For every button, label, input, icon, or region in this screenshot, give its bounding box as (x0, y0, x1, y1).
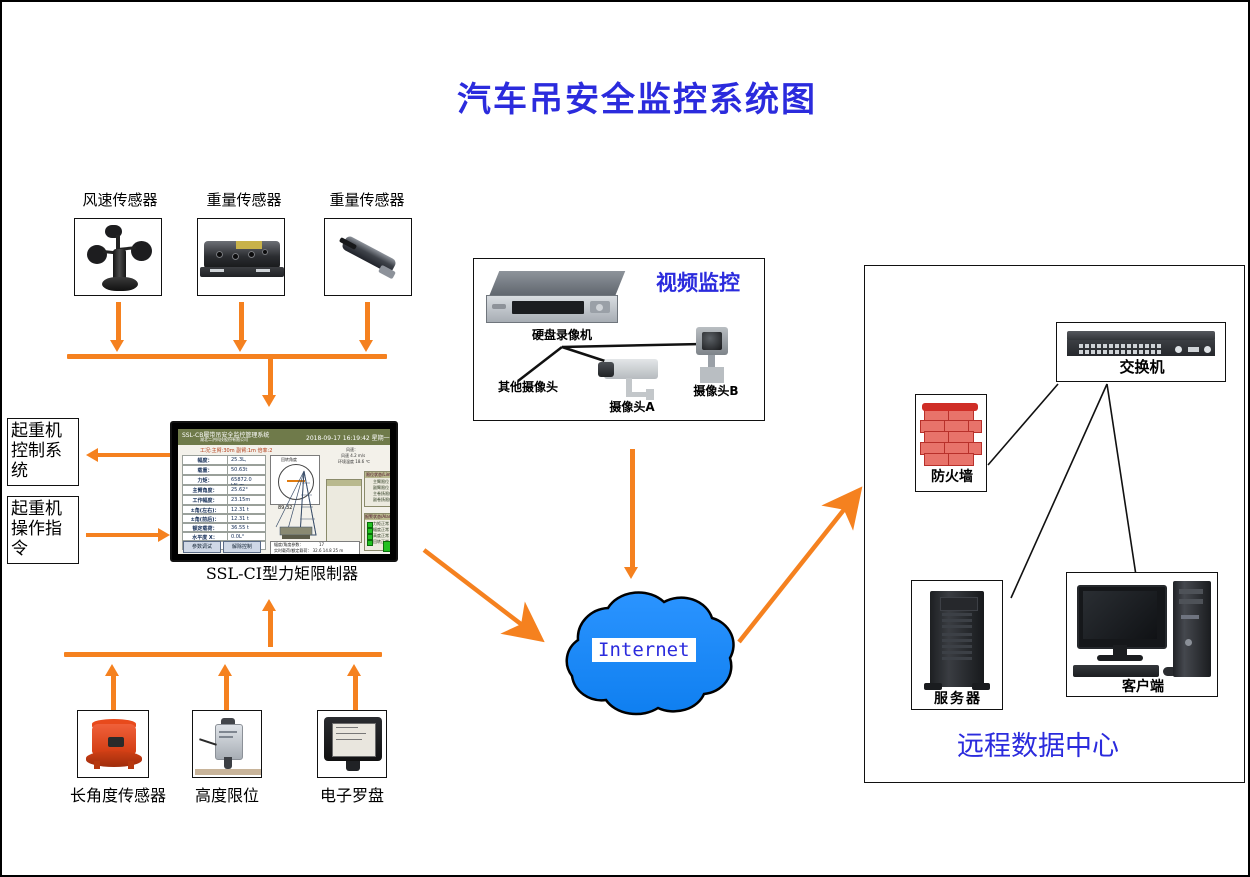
arrow-line-bottom-to-controller (268, 610, 273, 647)
row-key: 幅度： (183, 456, 228, 464)
sensor-bus-top (67, 354, 387, 359)
load-cell-icon (197, 218, 285, 296)
arrow-head-to-control-system (86, 448, 98, 462)
torque-limiter-caption: SSL-CI型力矩限制器 (172, 565, 392, 583)
height-limit-icon (192, 710, 262, 778)
arrow-head-bus-to-controller (262, 395, 276, 407)
controller-data-row: 工作幅度： 23.15m (182, 495, 266, 505)
sensor-label-wind-speed: 风速传感器 (65, 192, 175, 209)
camera-b-label: 摄像头B (670, 385, 762, 399)
controller-header-datetime: 2018-09-17 16:19:42 星期一 (306, 433, 390, 442)
controller-footer-box: 幅度/角度参数： 17 实时载荷/额定载荷： 32.6 14.8 25 m (270, 541, 360, 554)
row-value: 36.55 t (228, 524, 265, 531)
arrow-head-to-controller (158, 528, 170, 542)
row-value: 12.31 t (228, 515, 265, 522)
row-key: ±角(前后)： (183, 515, 228, 522)
controller-limit-panel-title: 限位状态/Limit Switch (366, 472, 390, 478)
other-camera-label: 其他摄像头 (482, 381, 574, 395)
row-key: 水平度 X： (183, 533, 228, 540)
arrow-head-wind (110, 340, 124, 352)
row-value: 12.31 t (228, 506, 265, 513)
controller-data-row: 力矩： 65872.0 kN·m (182, 475, 266, 485)
camera-a-label: 摄像头A (586, 401, 678, 415)
box-crane-control-system[interactable]: 起重机控制系统 (7, 418, 79, 486)
arrow-head-weight-1 (233, 340, 247, 352)
torque-limiter-device[interactable]: SSL-CB履带吊安全监控管理系统 湖北二洪科技股份有限公司 2018-09-1… (170, 421, 398, 562)
arrow-line-video-to-cloud (630, 449, 635, 569)
row-value: 50.63t (228, 466, 265, 474)
sensor-label-height-limit: 高度限位 (172, 787, 282, 805)
arrow-head-weight-2 (359, 340, 373, 352)
row-value: 25.62° (228, 486, 265, 494)
controller-status-indicator (383, 541, 390, 552)
controller-button-debug[interactable]: 参数调试 (183, 541, 221, 553)
controller-load-panel (326, 479, 362, 543)
controller-data-row: 载重： 50.63t (182, 465, 266, 475)
controller-data-row: 主臂角度： 25.62° (182, 485, 266, 495)
switch-label: 交换机 (1057, 359, 1226, 376)
arrow-line-height-limit (224, 675, 229, 710)
controller-work-condition: 工况:主臂:30m 副臂:1m 倍率:2 (200, 447, 272, 454)
arrow-line-angle-sensor (111, 675, 116, 710)
sensor-label-angle: 长角度传感器 (58, 787, 178, 805)
row-value: 25.3L, (228, 456, 265, 464)
controller-data-row: ±角(前后)： 12.31 t (182, 514, 266, 523)
row-key: 额定载荷： (183, 524, 228, 531)
sensor-label-compass: 电子罗盘 (297, 787, 407, 805)
controller-data-row: 水平度 X： 0.0L° (182, 532, 266, 541)
limit-item: 副卷扬限位 (373, 497, 390, 503)
angle-sensor-icon (77, 710, 149, 778)
controller-footer-sub: 实时载荷/额定载荷： 32.6 14.8 25 m (274, 548, 343, 554)
arrow-line-weight-2 (365, 302, 370, 342)
controller-footer-right: 17 (319, 542, 324, 547)
controller-alarm-panel-title: 报警状态/Alarm Status (365, 514, 390, 520)
arrow-line-bus-to-controller (268, 359, 273, 397)
video-monitoring-title: 视频监控 (656, 267, 740, 297)
internet-label: Internet (592, 638, 696, 662)
row-key: 力矩： (183, 476, 228, 484)
electronic-compass-icon (317, 710, 387, 778)
arrow-line-wind (116, 302, 121, 342)
box-crane-operation-command[interactable]: 起重机操作指令 (7, 496, 79, 564)
row-value: 0.0L° (228, 533, 265, 540)
controller-limit-panel: 限位状态/Limit Switch 主臂限位 副臂限位 主卷扬限位 副卷扬限位 (364, 471, 390, 507)
row-key: 主臂角度： (183, 486, 228, 494)
row-key: 载重： (183, 466, 228, 474)
arrow-line-to-controller (86, 533, 158, 537)
video-monitoring-block: 硬盘录像机 摄像头A 摄像头B 其他摄像头 视频监控 (473, 258, 765, 421)
firewall-icon: 防火墙 (915, 394, 987, 492)
box-crane-operation-command-label: 起重机操作指令 (11, 499, 62, 559)
row-key: ±角(左右)： (183, 506, 228, 513)
controller-button-release[interactable]: 解除控制 (223, 541, 261, 553)
crane-illustration (274, 469, 334, 541)
row-value: 65872.0 kN·m (228, 476, 265, 484)
arrow-line-compass (353, 675, 358, 710)
row-value: 23.15m (228, 496, 265, 504)
arrow-line-to-control-system (98, 453, 170, 457)
sensor-label-weight-1: 重量传感器 (189, 192, 299, 209)
remote-data-center-title: 远程数据中心 (957, 724, 1119, 763)
controller-dial-label: 回转角度 (281, 457, 297, 463)
row-key: 工作幅度： (183, 496, 228, 504)
arrow-head-video-to-cloud (624, 567, 638, 579)
controller-data-row: ±角(左右)： 12.31 t (182, 505, 266, 514)
server-icon: 服务器 (911, 580, 1003, 710)
page-title: 汽车吊安全监控系统图 (457, 72, 817, 121)
server-label: 服务器 (912, 691, 1003, 707)
sensor-bus-bottom (64, 652, 382, 657)
controller-data-row: 额定载荷： 36.55 t (182, 523, 266, 532)
network-switch-icon: 交换机 (1056, 322, 1226, 382)
anemometer-icon (74, 218, 162, 296)
controller-data-row: 幅度： 25.3L, (182, 455, 266, 465)
box-crane-control-system-label: 起重机控制系统 (11, 421, 62, 481)
arrow-line-weight-1 (239, 302, 244, 342)
client-pc-icon: 客户端 (1066, 572, 1218, 697)
load-pin-icon (324, 218, 412, 296)
client-label: 客户端 (1067, 679, 1218, 695)
controller-header-company: 湖北二洪科技股份有限公司 (200, 437, 248, 443)
internet-cloud: Internet (530, 580, 762, 730)
controller-temp-value: 环境温度 18.6 ℃ (338, 459, 370, 465)
diagram-canvas: 汽车吊安全监控系统图 风速传感器 重量传感器 重量传感器 (0, 0, 1250, 877)
sensor-label-weight-2: 重量传感器 (312, 192, 422, 209)
firewall-label: 防火墙 (916, 469, 987, 485)
